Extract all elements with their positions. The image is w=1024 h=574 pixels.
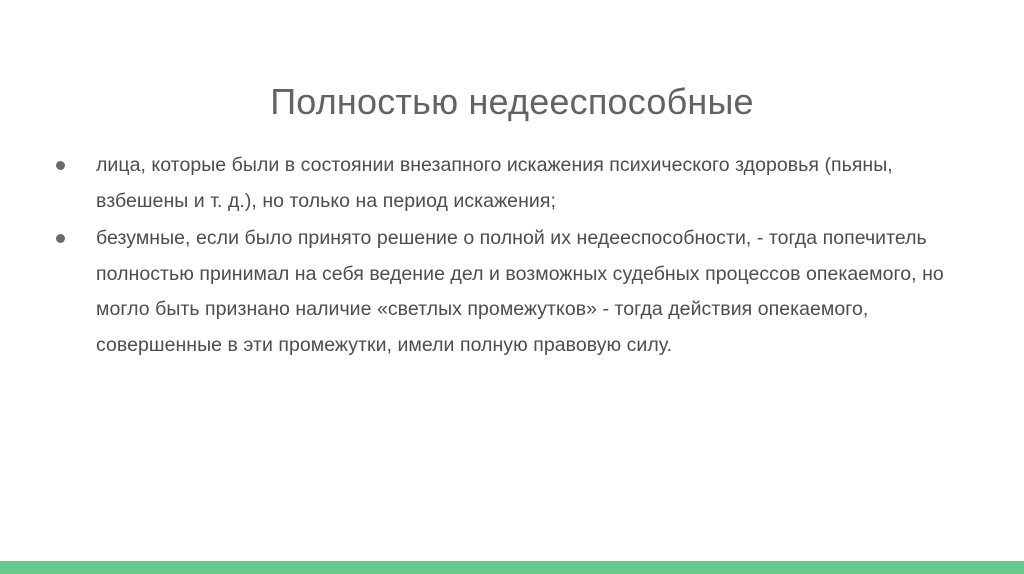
bullet-point-icon	[56, 234, 65, 243]
bottom-accent-bar	[0, 561, 1024, 574]
slide: Полностью недееспособные лица, которые б…	[0, 0, 1024, 574]
list-item: безумные, если было принято решение о по…	[48, 221, 988, 363]
list-item: лица, которые были в состоянии внезапног…	[48, 148, 988, 219]
bullet-point-icon	[56, 161, 65, 170]
page-title: Полностью недееспособные	[0, 80, 1024, 124]
slide-content: лица, которые были в состоянии внезапног…	[48, 148, 988, 365]
list-item-text: безумные, если было принято решение о по…	[96, 227, 944, 356]
bullet-list: лица, которые были в состоянии внезапног…	[48, 148, 988, 363]
list-item-text: лица, которые были в состоянии внезапног…	[96, 154, 893, 212]
